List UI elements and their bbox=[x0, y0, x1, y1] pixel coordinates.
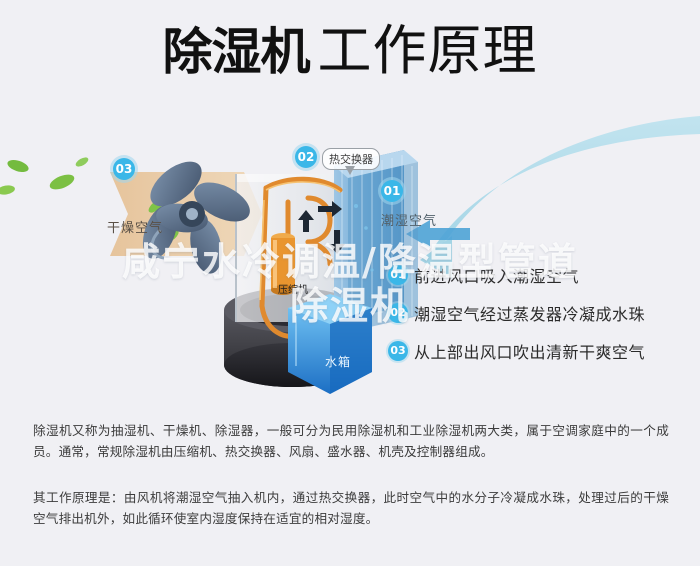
step-badge: 02 bbox=[388, 303, 408, 323]
step-text: 从上部出风口吹出清新干爽空气 bbox=[414, 339, 645, 363]
diagram-label-compressor: 压缩机 bbox=[278, 281, 308, 296]
diagram-label-humid-air: 潮湿空气 bbox=[381, 210, 437, 229]
title-part-2: 工作原理 bbox=[318, 19, 538, 82]
steps-list: 01 前进风口吸入潮湿空气 02 潮湿空气经过蒸发器冷凝成水珠 03 从上部出风… bbox=[388, 256, 688, 370]
diagram-badge-dry-air: 03 bbox=[113, 158, 135, 180]
step-text: 前进风口吸入潮湿空气 bbox=[414, 263, 579, 287]
step-badge: 03 bbox=[388, 341, 408, 361]
list-item: 02 潮湿空气经过蒸发器冷凝成水珠 bbox=[388, 294, 688, 332]
humid-air-arc bbox=[420, 116, 700, 278]
diagram-label-water-tank: 水箱 bbox=[325, 353, 351, 370]
page-root: 除湿机工作原理 bbox=[0, 0, 700, 566]
diagram-badge-heat-exchanger: 02 bbox=[295, 146, 317, 168]
description-paragraph-2: 其工作原理是：由风机将潮湿空气抽入机内，通过热交换器，此时空气中的水分子冷凝成水… bbox=[33, 487, 669, 529]
diagram-badge-humid-air: 01 bbox=[381, 180, 403, 202]
list-item: 01 前进风口吸入潮湿空气 bbox=[388, 256, 688, 294]
list-item: 03 从上部出风口吹出清新干爽空气 bbox=[388, 332, 688, 370]
step-badge: 01 bbox=[388, 265, 408, 285]
callout-pointer-icon bbox=[345, 166, 355, 175]
diagram-label-dry-air: 干燥空气 bbox=[107, 217, 163, 236]
description-paragraph-1: 除湿机又称为抽湿机、干燥机、除湿器，一般可分为民用除湿机和工业除湿机两大类，属于… bbox=[33, 420, 669, 462]
step-text: 潮湿空气经过蒸发器冷凝成水珠 bbox=[414, 301, 645, 325]
page-title: 除湿机工作原理 bbox=[0, 24, 700, 78]
title-part-1: 除湿机 bbox=[163, 23, 310, 81]
